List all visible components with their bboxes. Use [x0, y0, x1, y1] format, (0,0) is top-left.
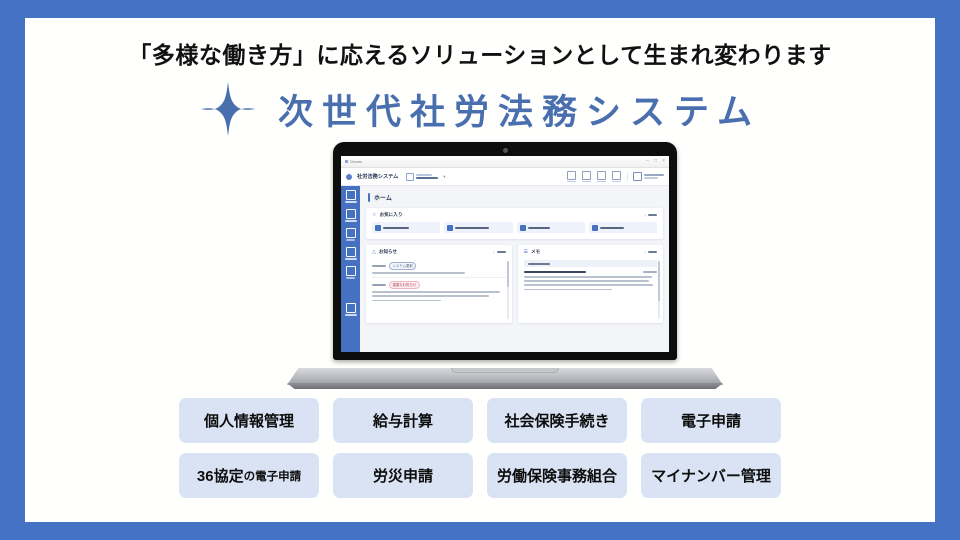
headline: 「多様な働き方」に応えるソリューションとして生まれ変わります	[25, 36, 935, 70]
dashboard-columns: △ お知らせ ›	[366, 245, 663, 323]
task-text	[524, 284, 653, 286]
app-body: ホーム ☆ お気に入り ›	[341, 186, 669, 352]
table-row[interactable]	[524, 271, 658, 274]
app-page-title-label: ホーム	[374, 193, 392, 202]
laptop-mockup: Chrome – □ × 社労法務システム	[287, 142, 723, 392]
task-text	[524, 280, 649, 282]
laptop-base	[287, 368, 723, 392]
favorites-card-header: ☆ お気に入り ›	[366, 208, 663, 222]
app-logo-icon	[346, 174, 352, 180]
sidebar-item-1[interactable]	[345, 190, 357, 203]
scrollbar[interactable]	[507, 261, 509, 319]
account-menu[interactable]	[627, 172, 664, 181]
title-accent-bar	[368, 193, 370, 202]
notice-date	[372, 265, 386, 267]
list-item[interactable]	[589, 222, 657, 233]
bell-icon: △	[372, 250, 376, 255]
tasks-card-title: メモ	[531, 249, 540, 255]
task-text	[524, 276, 652, 278]
tasks-scroll-area[interactable]	[518, 259, 664, 323]
star-icon: ☆	[372, 213, 376, 218]
notice-card-header: △ お知らせ ›	[366, 245, 512, 259]
favorites-more-label	[648, 214, 657, 216]
notice-more-label	[497, 251, 506, 253]
account-label	[644, 174, 664, 179]
app-name: 社労法務システム	[357, 173, 398, 180]
app-header-actions	[567, 171, 664, 182]
feature-button-workers-comp[interactable]: 労災申請	[333, 453, 473, 498]
notice-text	[372, 295, 489, 297]
feature-button-social-insurance[interactable]: 社会保険手続き	[487, 398, 627, 443]
task-date	[643, 271, 657, 273]
maximize-icon[interactable]: □	[654, 159, 657, 164]
task-title	[524, 271, 586, 274]
feature-label-sub: の電子申請	[244, 468, 302, 484]
feature-button-36-agreement[interactable]: 36協定の電子申請	[179, 453, 319, 498]
feature-button-labor-insurance-assoc[interactable]: 労働保険事務組合	[487, 453, 627, 498]
feature-button-mynumber[interactable]: マイナンバー管理	[641, 453, 781, 498]
org-selector[interactable]: ▼	[406, 173, 446, 181]
scrollbar[interactable]	[658, 261, 660, 319]
browser-favicon-icon	[345, 160, 348, 163]
close-icon[interactable]: ×	[662, 159, 665, 164]
notice-scroll-area[interactable]: システム更新 重要なお知らせ	[366, 259, 512, 323]
sidebar-item-4[interactable]	[345, 247, 357, 260]
notice-text	[372, 300, 441, 302]
tasks-more-link[interactable]: ›	[645, 250, 658, 255]
feature-button-payroll[interactable]: 給与計算	[333, 398, 473, 443]
slide-frame: 「多様な働き方」に応えるソリューションとして生まれ変わります 次世代社労法務シス…	[0, 0, 960, 540]
browser-titlebar: Chrome – □ ×	[341, 156, 669, 168]
help-icon[interactable]	[612, 171, 621, 182]
chevron-down-icon[interactable]: ▼	[442, 174, 446, 179]
trackpad-notch	[451, 368, 559, 373]
list-item[interactable]	[372, 222, 440, 233]
org-label	[416, 174, 438, 179]
app-sidebar	[341, 186, 360, 352]
favorites-card: ☆ お気に入り ›	[366, 208, 663, 239]
list-icon: ☰	[524, 250, 528, 255]
home-icon[interactable]	[597, 171, 606, 182]
list-item[interactable]	[517, 222, 585, 233]
slide-canvas: 「多様な働き方」に応えるソリューションとして生まれ変わります 次世代社労法務シス…	[25, 18, 935, 522]
document-icon[interactable]	[567, 171, 576, 182]
list-item[interactable]	[444, 222, 512, 233]
notice-more-link[interactable]: ›	[493, 250, 506, 255]
laptop-screen: Chrome – □ × 社労法務システム	[341, 156, 669, 352]
page-title: 次世代社労法務システム	[269, 84, 761, 135]
sidebar-item-5[interactable]	[346, 266, 356, 279]
camera-icon	[503, 148, 508, 153]
feature-label-main: 36協定	[197, 465, 244, 486]
browser-tab[interactable]: Chrome	[345, 160, 362, 164]
chevron-right-icon: ›	[645, 250, 647, 255]
tasks-card-header: ☰ メモ ›	[518, 245, 664, 259]
sidebar-item-3[interactable]	[346, 228, 356, 241]
favorites-list	[366, 222, 663, 239]
notice-text	[372, 291, 500, 293]
laptop-lid: Chrome – □ × 社労法務システム	[333, 142, 677, 360]
list-item[interactable]: システム更新	[372, 259, 506, 278]
favorites-more-link[interactable]: ›	[645, 213, 658, 218]
notice-text	[372, 272, 465, 274]
building-icon	[406, 173, 414, 181]
minimize-icon[interactable]: –	[646, 159, 649, 164]
notice-date	[372, 284, 386, 286]
feature-button-e-application[interactable]: 電子申請	[641, 398, 781, 443]
list-item[interactable]: 重要なお知らせ	[372, 278, 506, 305]
chevron-right-icon: ›	[645, 213, 647, 218]
compass-star-icon	[199, 80, 257, 138]
app-page-title: ホーム	[368, 193, 663, 202]
sidebar-item-2[interactable]	[345, 209, 357, 222]
favorites-card-title: お気に入り	[379, 212, 402, 218]
tasks-card: ☰ メモ ›	[518, 245, 664, 323]
app-header: 社労法務システム ▼	[341, 168, 669, 186]
tasks-more-label	[648, 251, 657, 253]
brand-title-row: 次世代社労法務システム	[25, 80, 935, 138]
feature-buttons: 個人情報管理 給与計算 社会保険手続き 電子申請 36協定の電子申請 労災申請 …	[25, 398, 935, 498]
status-badge: システム更新	[389, 262, 416, 270]
app-content: ホーム ☆ お気に入り ›	[360, 186, 669, 352]
feature-button-personal-info[interactable]: 個人情報管理	[179, 398, 319, 443]
notice-card-title: お知らせ	[379, 249, 397, 255]
window-controls[interactable]: – □ ×	[646, 159, 665, 164]
browser-tab-label: Chrome	[350, 160, 362, 164]
notice-card: △ お知らせ ›	[366, 245, 512, 323]
avatar	[633, 172, 642, 181]
task-text	[524, 289, 612, 291]
status-badge: 重要なお知らせ	[389, 281, 420, 289]
chevron-right-icon: ›	[493, 250, 495, 255]
feature-row-2: 36協定の電子申請 労災申請 労働保険事務組合 マイナンバー管理	[179, 453, 781, 498]
sidebar-item-6[interactable]	[345, 303, 357, 316]
bell-icon[interactable]	[582, 171, 591, 182]
table-header	[524, 260, 658, 267]
feature-row-1: 個人情報管理 給与計算 社会保険手続き 電子申請	[179, 398, 781, 443]
